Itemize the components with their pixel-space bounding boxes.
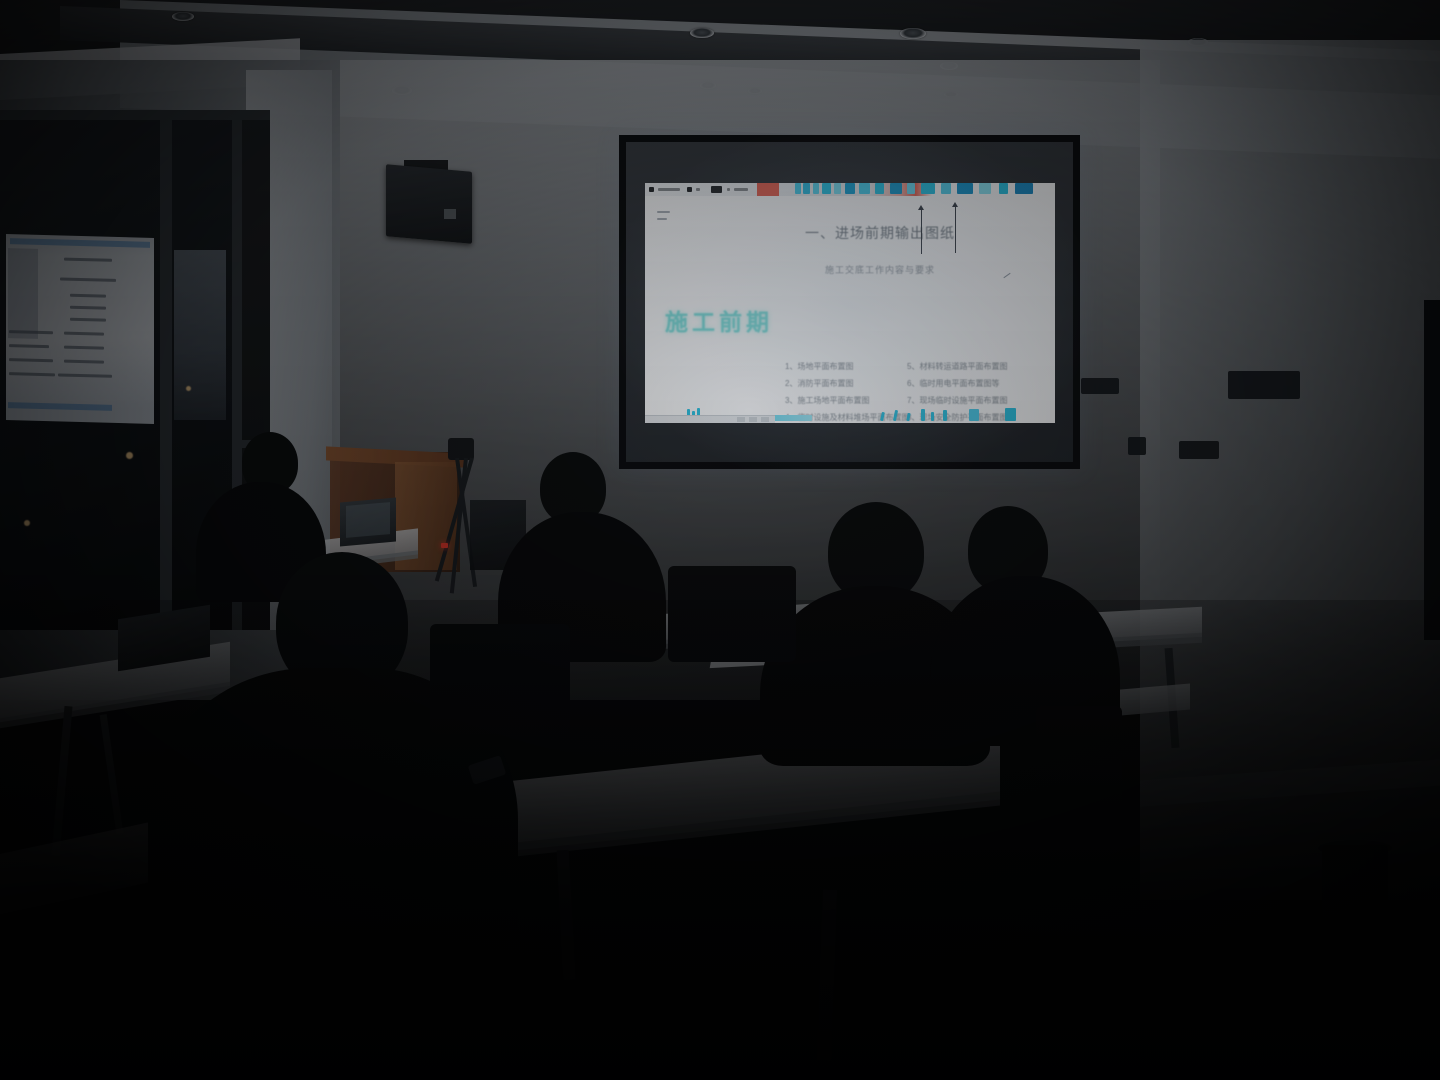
slide-section-heading: 施工前期 [665,303,773,337]
wall-speaker [386,164,472,244]
slide-corner-mark [657,211,677,227]
ceiling-downlight [900,28,926,39]
ribbon-chip [813,183,819,194]
reflection-text-line [70,306,106,310]
ribbon-chip [845,183,855,194]
deco-bar [1005,408,1016,421]
ribbon-chip [834,183,841,194]
reflection-text-line [64,360,104,364]
bullet-item: 1、场地平面布置图 [785,358,905,375]
slide-status-bar[interactable] [645,415,775,423]
corner-mark-line [657,218,667,220]
deco-bar [880,412,885,421]
toolbar-label [734,188,748,191]
deco-bar [893,410,898,421]
ceiling-downlight [172,12,194,21]
undo-icon[interactable] [696,188,700,191]
window-glass-glow [174,250,226,420]
deco-bar [969,409,979,421]
chair-back [1036,706,1122,816]
ribbon-chip [859,183,870,194]
deco-bar [943,410,947,421]
ceiling-downlight [690,28,714,38]
bullet-item: 2、消防平面布置图 [785,375,905,392]
table-leg [557,850,576,980]
slide-arrow-line [921,210,922,254]
reflection-text-line [64,332,104,336]
reflection-text-line [58,373,112,377]
toolbar-label [658,188,680,191]
ribbon-chip [1015,183,1033,194]
bold-icon[interactable] [711,186,722,193]
ribbon-chip [999,183,1008,194]
slide-arrow-line [955,207,956,253]
ribbon-chip [979,183,991,194]
deco-bar [906,413,910,421]
deco-bar [931,412,934,421]
ribbon-chip [795,183,801,194]
bullet-item: 6、临时用电平面布置图等 [907,375,1037,392]
reflection-bottom-band [8,402,112,411]
reflection-text-line [70,318,106,322]
reflection-text-line [9,372,55,376]
close-button[interactable] [757,183,779,196]
window-mullion [160,110,172,630]
table-leg [51,706,72,856]
status-cell[interactable] [749,417,757,422]
reflection-text-line [60,277,116,281]
table-leg [817,890,837,1060]
corner-mark-line [657,211,670,213]
speaker-badge [444,209,456,219]
ribbon-chip [822,183,831,194]
window-frame [0,110,270,120]
reflection-text-line [64,346,104,350]
control-panel[interactable] [1228,371,1300,399]
reflection-text-line [9,344,49,348]
table-leg [100,714,124,834]
save-icon[interactable] [687,187,692,192]
city-light [24,520,30,526]
laptop-screen-glow [346,502,390,538]
ribbon-chip [957,183,973,194]
ribbon-chip [921,183,935,194]
deco-bar [921,409,925,421]
slide-title: 一、进场前期输出图纸 [765,223,995,243]
right-wall-dark-edge [1424,300,1440,640]
chair-back [430,624,570,734]
meeting-room-photo: 一、进场前期输出图纸 施工交底工作内容与要求 施工前期 1、场地平面布置图 2、… [0,0,1440,1080]
slide-subtitle: 施工交底工作内容与要求 [765,263,995,276]
ribbon-chip [907,183,915,194]
ribbon-chip [890,183,902,194]
reflection-top-band [10,238,150,248]
window-slide-reflection [6,234,154,424]
reflection-table-block [8,248,38,339]
chair-back [668,566,796,662]
table-foreground-left [0,822,150,914]
toolbar-separator [727,188,730,191]
status-cell[interactable] [761,417,769,422]
status-cell[interactable] [737,417,745,422]
reflection-text-line [9,358,53,362]
trash-bin [1322,845,1388,927]
ribbon-chip [941,183,951,194]
reflection-text-line [64,258,112,262]
slide-tick-mark [1003,273,1010,278]
light-switch-panel[interactable] [1081,378,1119,394]
projected-slide[interactable]: 一、进场前期输出图纸 施工交底工作内容与要求 施工前期 1、场地平面布置图 2、… [645,183,1055,423]
power-outlet[interactable] [1128,437,1146,455]
recording-indicator-led [441,543,448,548]
wall-box[interactable] [1179,441,1219,459]
ribbon-chip [875,183,884,194]
reflection-text-line [70,294,106,298]
ribbon-thumbnail-strip [795,183,1055,196]
ribbon-chip [803,183,810,194]
app-menu-icon[interactable] [649,187,654,192]
city-light [186,386,191,391]
bullet-item: 5、材料转运道路平面布置图 [907,358,1037,375]
city-light [126,452,133,459]
